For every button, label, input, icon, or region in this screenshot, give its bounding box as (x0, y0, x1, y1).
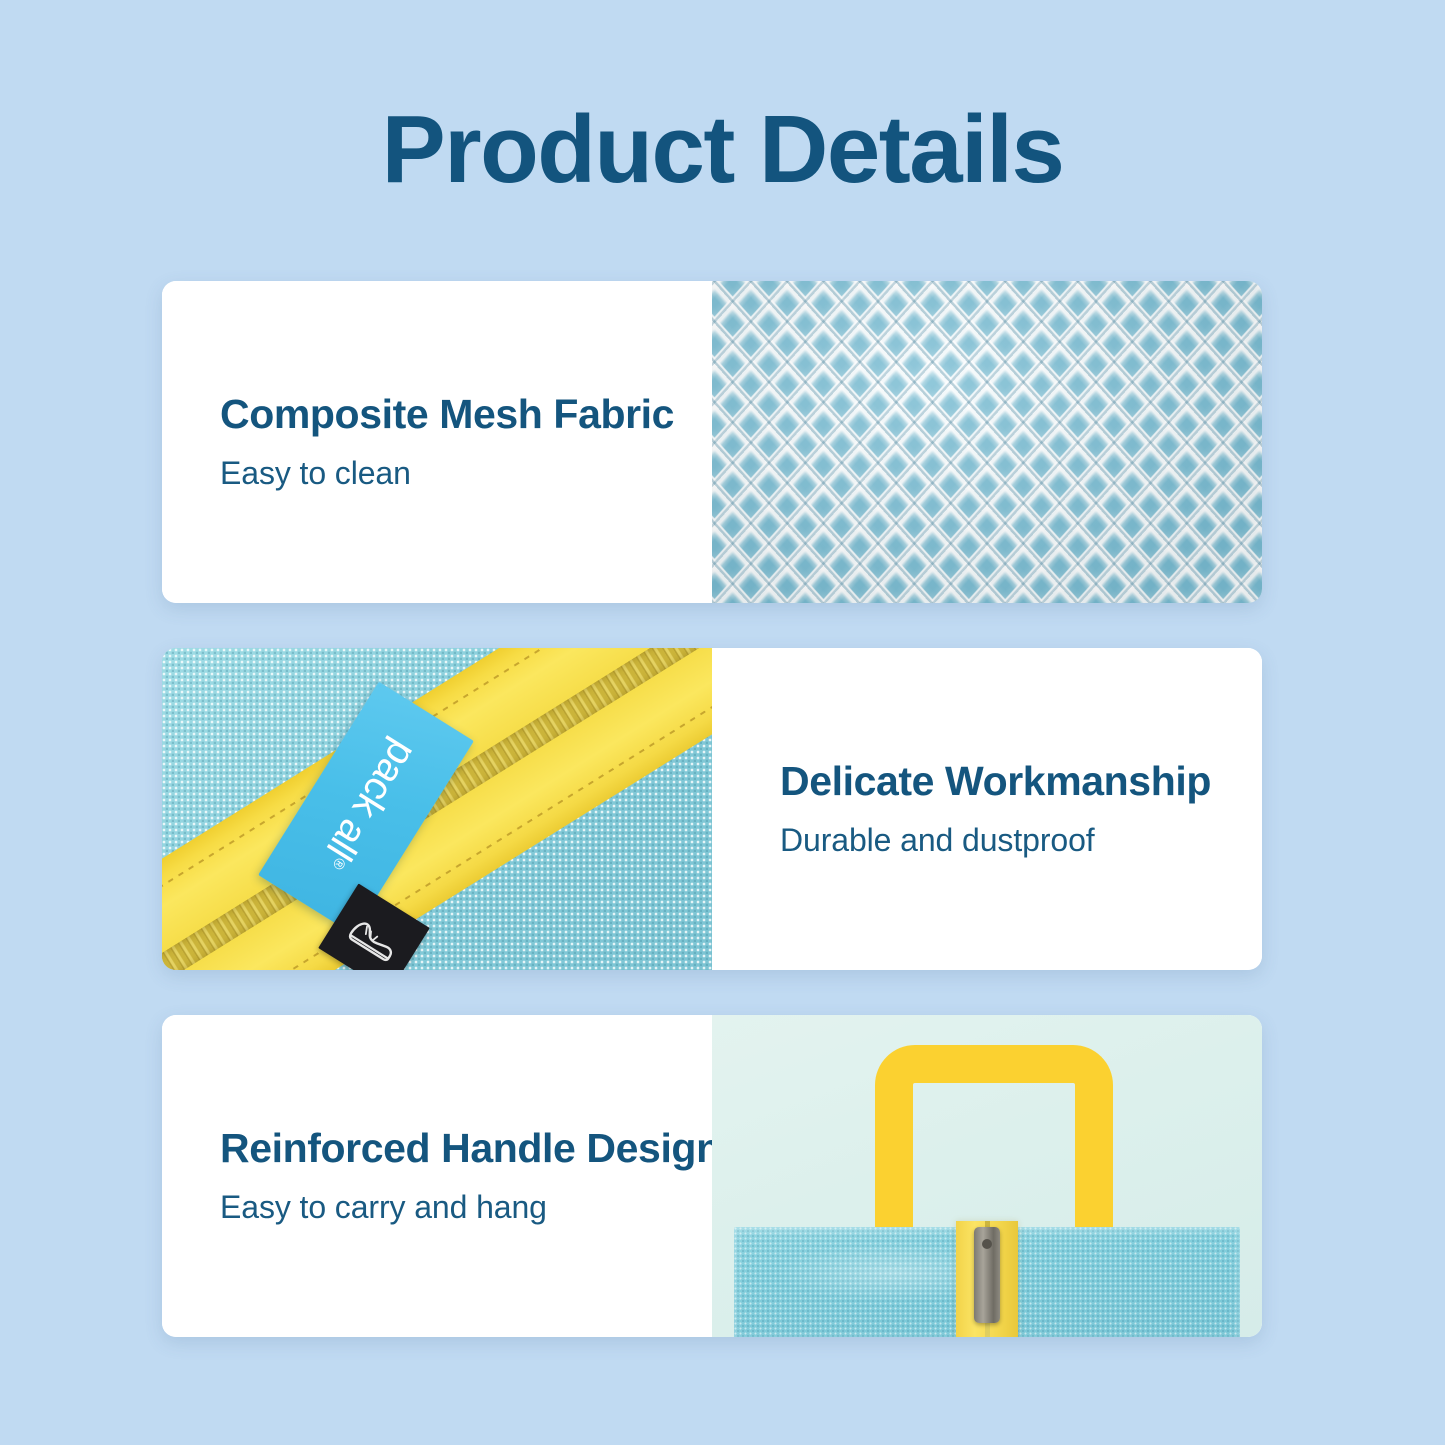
card-text-panel: Reinforced Handle Design Easy to carry a… (162, 1015, 712, 1337)
card-text-panel: Delicate Workmanship Durable and dustpro… (712, 648, 1262, 970)
delicate-workmanship-photo: pack all® (162, 648, 712, 970)
card-subtitle: Durable and dustproof (780, 821, 1242, 859)
product-detail-card: Composite Mesh Fabric Easy to clean (162, 281, 1262, 603)
diamond-mesh-texture (712, 281, 1262, 603)
card-title: Composite Mesh Fabric (220, 392, 692, 438)
card-subtitle: Easy to clean (220, 454, 692, 492)
page-title: Product Details (0, 98, 1445, 202)
card-title: Reinforced Handle Design (220, 1126, 692, 1172)
product-detail-card: Reinforced Handle Design Easy to carry a… (162, 1015, 1262, 1337)
product-detail-card: Delicate Workmanship Durable and dustpro… (162, 648, 1262, 970)
card-subtitle: Easy to carry and hang (220, 1188, 692, 1226)
bag-photo-scene (712, 1015, 1262, 1337)
reinforced-handle-photo (712, 1015, 1262, 1337)
zipper-pull (974, 1227, 1000, 1323)
bag-zipper (956, 1221, 1018, 1337)
composite-mesh-fabric-photo (712, 281, 1262, 603)
card-title: Delicate Workmanship (780, 759, 1242, 805)
card-text-panel: Composite Mesh Fabric Easy to clean (162, 281, 712, 603)
sneaker-icon (342, 909, 405, 967)
zipper-assembly (162, 648, 712, 970)
product-detail-card-list: Composite Mesh Fabric Easy to clean Deli… (162, 281, 1262, 1382)
